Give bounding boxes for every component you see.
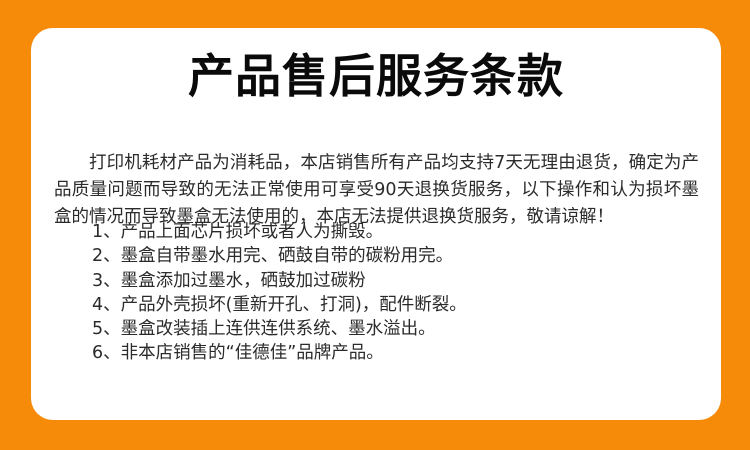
list-item: 1、产品上面芯片损坏或者人为撕毁。 <box>92 220 692 244</box>
page-background: 产品售后服务条款 打印机耗材产品为消耗品，本店销售所有产品均支持7天无理由退货，… <box>0 0 750 450</box>
list-item: 6、非本店销售的“佳德佳”品牌产品。 <box>92 341 692 365</box>
list-item: 3、墨盒添加过墨水，硒鼓加过碳粉 <box>92 269 692 293</box>
service-terms-card: 产品售后服务条款 打印机耗材产品为消耗品，本店销售所有产品均支持7天无理由退货，… <box>31 28 721 420</box>
list-item: 5、墨盒改装插上连供连供系统、墨水溢出。 <box>92 317 692 341</box>
list-item: 2、墨盒自带墨水用完、硒鼓自带的碳粉用完。 <box>92 244 692 268</box>
list-item: 4、产品外壳损坏(重新开孔、打洞)，配件断裂。 <box>92 293 692 317</box>
terms-list: 1、产品上面芯片损坏或者人为撕毁。 2、墨盒自带墨水用完、硒鼓自带的碳粉用完。 … <box>92 220 692 366</box>
intro-paragraph: 打印机耗材产品为消耗品，本店销售所有产品均支持7天无理由退货，确定为产品质量问题… <box>54 150 699 231</box>
page-title: 产品售后服务条款 <box>31 48 721 104</box>
